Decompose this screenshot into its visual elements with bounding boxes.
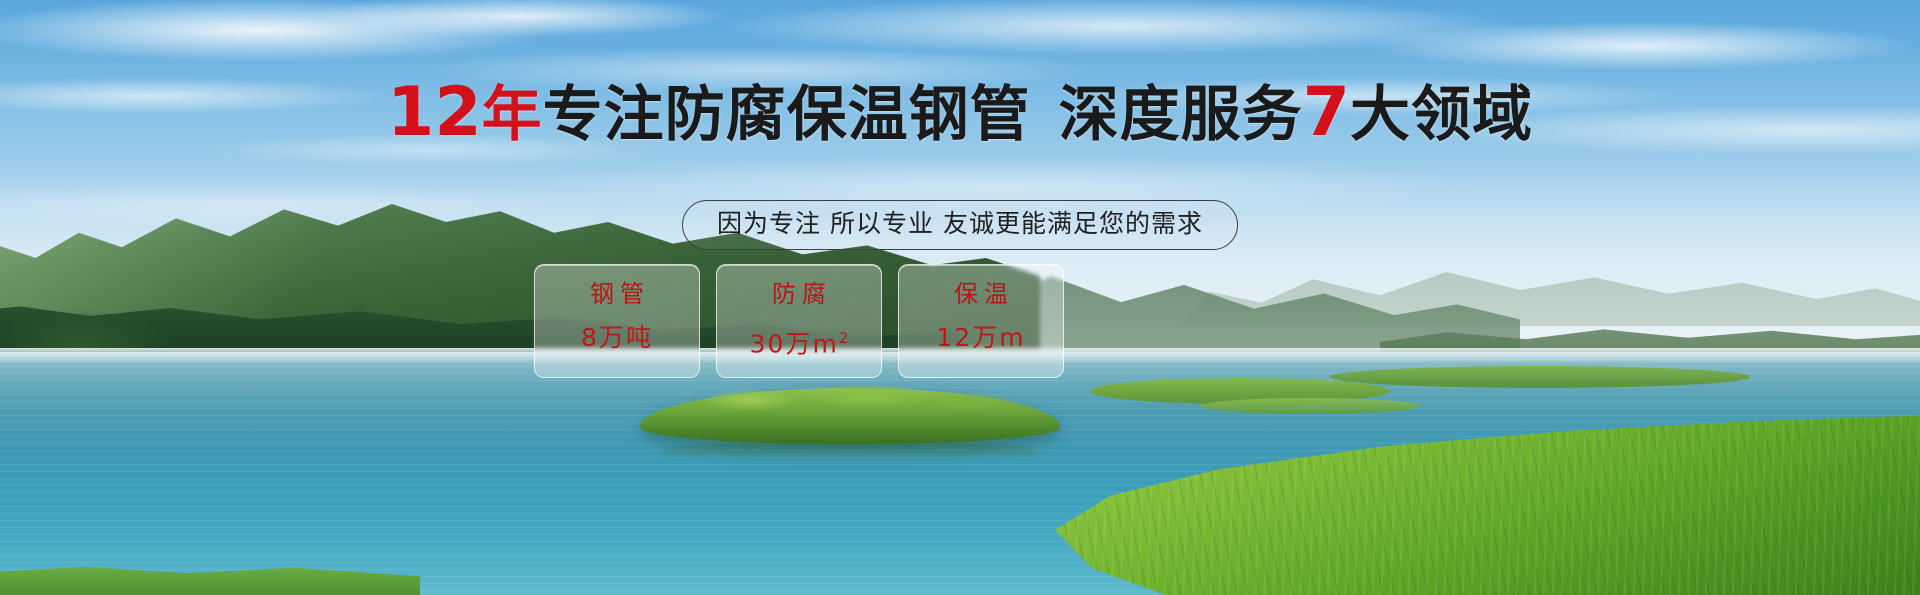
stat-card-value: 12万m (907, 323, 1055, 353)
headline-years-number: 12 (387, 73, 482, 152)
stat-card: 防腐 30万m2 (716, 264, 882, 378)
stat-card-group: 钢管 8万吨 防腐 30万m2 保温 12万m (534, 264, 1064, 378)
stat-card-value-exponent: 2 (839, 329, 849, 347)
headline-fields-number: 7 (1303, 73, 1350, 152)
stat-card-value: 8万吨 (543, 323, 691, 353)
stat-card-label: 钢管 (543, 279, 691, 309)
headline-years-unit: 年 (482, 80, 543, 150)
banner-content: 12年专注防腐保温钢管深度服务7大领域 因为专注 所以专业 友诚更能满足您的需求… (0, 0, 1920, 595)
stat-card: 保温 12万m (898, 264, 1064, 378)
stat-card-value-text: 8万吨 (581, 323, 653, 352)
stat-card: 钢管 8万吨 (534, 264, 700, 378)
stat-card-value-text: 12万m (936, 323, 1025, 352)
stat-card-value: 30万m2 (725, 323, 873, 359)
stat-card-label: 保温 (907, 279, 1055, 309)
headline-part-focus: 专注防腐保温钢管 (543, 80, 1031, 150)
banner-subtitle-pill: 因为专注 所以专业 友诚更能满足您的需求 (682, 200, 1238, 250)
hero-banner: 12年专注防腐保温钢管深度服务7大领域 因为专注 所以专业 友诚更能满足您的需求… (0, 0, 1920, 595)
headline-part-fields: 大领域 (1350, 80, 1533, 150)
stat-card-label: 防腐 (725, 279, 873, 309)
headline-part-service: 深度服务 (1059, 80, 1303, 150)
banner-headline: 12年专注防腐保温钢管深度服务7大领域 (0, 78, 1920, 150)
stat-card-value-text: 30万m (750, 329, 839, 358)
